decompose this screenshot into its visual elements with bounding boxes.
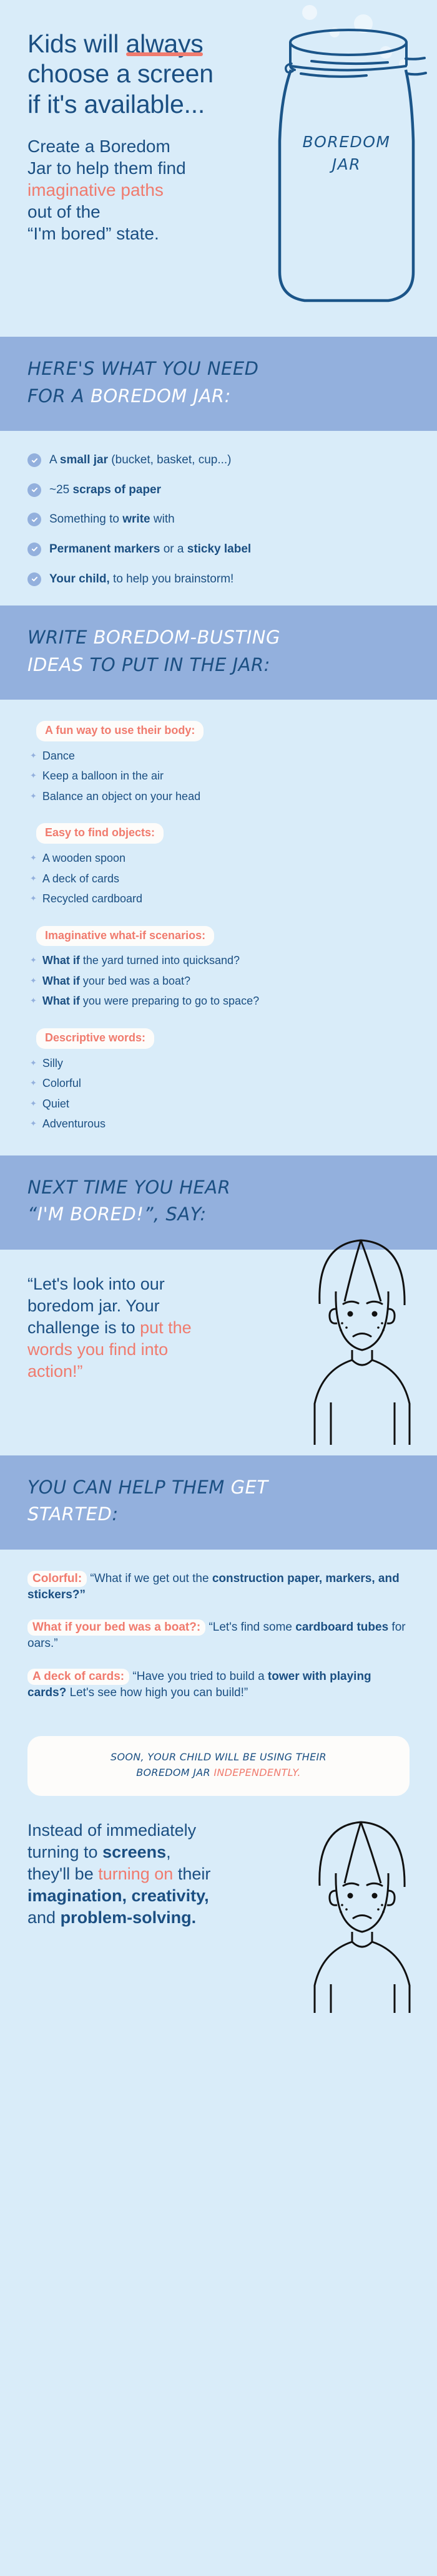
list-item: ✦Recycled cardboard — [27, 891, 410, 907]
callout-line2-plain: BOREDOM JAR — [136, 1767, 214, 1778]
boredom-jar-illustration: BOREDOM JAR — [272, 4, 428, 328]
needs-heading-band: HERE'S WHAT YOU NEED FOR A BOREDOM JAR: — [0, 337, 437, 431]
ideas-heading-line1-plain: WRITE — [27, 627, 94, 648]
list-item-label: What if your bed was a boat? — [42, 973, 190, 990]
closer-text: Instead of immediately turning to screen… — [27, 1820, 215, 1929]
help-heading-line1-plain: YOU CAN HELP THEM — [27, 1477, 231, 1498]
idea-group: A fun way to use their body: ✦Dance ✦Kee… — [27, 721, 410, 804]
list-item: ✦Keep a balloon in the air — [27, 768, 410, 784]
list-item-label: Balance an object on your head — [42, 789, 200, 805]
ideas-heading-band: WRITE BOREDOM-BUSTING IDEAS TO PUT IN TH… — [0, 605, 437, 700]
subhead-part-1: Create a Boredom — [27, 137, 170, 156]
diamond-bullet-icon: ✦ — [30, 1116, 37, 1132]
subhead-part-4: “I'm bored” state. — [27, 224, 159, 243]
tip: Colorful: “What if we get out the constr… — [27, 1571, 410, 1603]
list-item-label: Silly — [42, 1056, 63, 1072]
callout-card: SOON, YOUR CHILD WILL BE USING THEIR BOR… — [27, 1736, 410, 1796]
list-item-label: A deck of cards — [42, 871, 119, 887]
tip-label: A deck of cards: — [27, 1669, 129, 1685]
headline-part-1: Kids will — [27, 29, 125, 58]
diamond-bullet-icon: ✦ — [30, 953, 37, 968]
idea-list: ✦A wooden spoon ✦A deck of cards ✦Recycl… — [27, 851, 410, 907]
list-item-label: Something to write with — [49, 511, 175, 528]
list-item-label: ~25 scraps of paper — [49, 482, 161, 498]
hero-subhead: Create a Boredom Jar to help them find i… — [27, 135, 249, 244]
closer-section: Instead of immediately turning to screen… — [0, 1801, 437, 2007]
idea-list: ✦What if the yard turned into quicksand?… — [27, 953, 410, 1010]
needs-list-section: A small jar (bucket, basket, cup...) ~25… — [0, 431, 437, 605]
parent-script-quote: “Let's look into our boredom jar. Your c… — [27, 1273, 215, 1382]
closer-bold3: problem-solving. — [61, 1908, 197, 1927]
jar-label-line1: BOREDOM — [303, 133, 391, 151]
say-heading-quote-close: ”, SAY: — [144, 1204, 206, 1225]
idea-group-label: Descriptive words: — [36, 1028, 154, 1049]
help-heading-line2-white: STARTED — [27, 1503, 112, 1525]
tip-label: Colorful: — [27, 1571, 87, 1587]
idea-group-label: Easy to find objects: — [36, 823, 164, 844]
check-icon — [27, 543, 41, 556]
say-heading-line1: NEXT TIME YOU HEAR — [27, 1177, 230, 1198]
list-item-label: Colorful — [42, 1076, 81, 1092]
list-item: ~25 scraps of paper — [27, 482, 410, 498]
list-item-label: Your child, to help you brainstorm! — [49, 571, 233, 587]
help-tips-section: Colorful: “What if we get out the constr… — [0, 1550, 437, 1720]
check-icon — [27, 483, 41, 497]
tip: What if your bed was a boat?: “Let's fin… — [27, 1619, 410, 1652]
list-item: ✦A wooden spoon — [27, 851, 410, 867]
list-item-label: Dance — [42, 748, 75, 765]
callout-wrapper: SOON, YOUR CHILD WILL BE USING THEIR BOR… — [0, 1720, 437, 1801]
headline-part-2: choose a screen — [27, 59, 214, 88]
list-item-label: Permanent markers or a sticky label — [49, 541, 251, 557]
list-item-label: Adventurous — [42, 1116, 106, 1132]
diamond-bullet-icon: ✦ — [30, 993, 37, 1009]
closer-part3: their — [173, 1864, 210, 1883]
subhead-part-3: out of the — [27, 202, 101, 221]
tip-text-bold: cardboard tubes — [295, 1621, 388, 1634]
diamond-bullet-icon: ✦ — [30, 1096, 37, 1112]
subhead-accent: imaginative paths — [27, 180, 164, 200]
ideas-heading-line1-white: BOREDOM-BUSTING — [94, 627, 280, 648]
list-item-label: Keep a balloon in the air — [42, 768, 164, 784]
help-heading-line1-white: GET — [231, 1477, 268, 1498]
say-heading-white: I'M BORED! — [37, 1204, 144, 1225]
list-item-label: Recycled cardboard — [42, 891, 142, 907]
tip-text-part1: “Let's find some — [205, 1621, 295, 1634]
child-illustration-2 — [287, 1807, 437, 2013]
say-heading: NEXT TIME YOU HEAR “I'M BORED!”, SAY: — [27, 1174, 410, 1228]
list-item: ✦Colorful — [27, 1076, 410, 1092]
diamond-bullet-icon: ✦ — [30, 748, 37, 764]
child-illustration — [287, 1222, 437, 1446]
idea-list: ✦Silly ✦Colorful ✦Quiet ✦Adventurous — [27, 1056, 410, 1132]
idea-group: Imaginative what-if scenarios: ✦What if … — [27, 926, 410, 1010]
jar-label-line2: JAR — [329, 155, 361, 173]
help-heading-band: YOU CAN HELP THEM GET STARTED: — [0, 1455, 437, 1550]
subhead-part-2: Jar to help them find — [27, 158, 186, 178]
list-item: Permanent markers or a sticky label — [27, 541, 410, 557]
hero-text-block: Kids will always choose a screen if it's… — [27, 29, 290, 244]
diamond-bullet-icon: ✦ — [30, 891, 37, 907]
check-icon — [27, 513, 41, 526]
say-heading-quote-open: “ — [27, 1204, 37, 1225]
list-item: Something to write with — [27, 511, 410, 528]
list-item-label: What if the yard turned into quicksand? — [42, 953, 240, 969]
list-item-label: Quiet — [42, 1096, 69, 1112]
callout-line2-accent: INDEPENDENTLY. — [214, 1767, 300, 1778]
tip-label: What if your bed was a boat?: — [27, 1619, 205, 1636]
closer-bold1: screens — [102, 1843, 166, 1861]
quote-section: “Let's look into our boredom jar. Your c… — [0, 1250, 437, 1455]
headline-underlined-word: always — [125, 29, 203, 59]
diamond-bullet-icon: ✦ — [30, 973, 37, 989]
idea-group-label: Imaginative what-if scenarios: — [36, 926, 214, 947]
idea-group: Descriptive words: ✦Silly ✦Colorful ✦Qui… — [27, 1028, 410, 1132]
list-item: ✦A deck of cards — [27, 871, 410, 887]
diamond-bullet-icon: ✦ — [30, 768, 37, 784]
help-heading-line2-plain: : — [112, 1503, 118, 1525]
idea-group: Easy to find objects: ✦A wooden spoon ✦A… — [27, 823, 410, 907]
list-item: Your child, to help you brainstorm! — [27, 571, 410, 587]
tip-text-part1: “Have you tried to build a — [129, 1670, 268, 1683]
page-title: Kids will always choose a screen if it's… — [27, 29, 290, 119]
idea-group-label: A fun way to use their body: — [36, 721, 204, 741]
diamond-bullet-icon: ✦ — [30, 1076, 37, 1091]
list-item: ✦Dance — [27, 748, 410, 765]
help-heading: YOU CAN HELP THEM GET STARTED: — [27, 1474, 410, 1528]
list-item: A small jar (bucket, basket, cup...) — [27, 452, 410, 468]
closer-accent: turning on — [98, 1864, 173, 1883]
closer-part4: and — [27, 1908, 61, 1927]
idea-list: ✦Dance ✦Keep a balloon in the air ✦Balan… — [27, 748, 410, 805]
tip-text-part1: “What if we get out the — [87, 1572, 212, 1585]
list-item: ✦Silly — [27, 1056, 410, 1072]
callout-line1: SOON, YOUR CHILD WILL BE USING THEIR — [110, 1751, 327, 1763]
list-item: ✦What if the yard turned into quicksand? — [27, 953, 410, 969]
ideas-list-section: A fun way to use their body: ✦Dance ✦Kee… — [0, 700, 437, 1155]
list-item: ✦What if your bed was a boat? — [27, 973, 410, 990]
diamond-bullet-icon: ✦ — [30, 871, 37, 887]
list-item-label: What if you were preparing to go to spac… — [42, 993, 259, 1010]
tip: A deck of cards: “Have you tried to buil… — [27, 1669, 410, 1701]
ideas-heading-line2-white: IDEAS — [27, 654, 90, 675]
diamond-bullet-icon: ✦ — [30, 789, 37, 804]
needs-heading-line2-plain: FOR A — [27, 385, 91, 407]
hero-section: BOREDOM JAR Kids will always choose a sc… — [0, 0, 437, 337]
list-item-label: A small jar (bucket, basket, cup...) — [49, 452, 232, 468]
tip-text-part2: Let's see how high you can build!” — [66, 1686, 248, 1699]
list-item: ✦Balance an object on your head — [27, 789, 410, 805]
needs-heading-line1: HERE'S WHAT YOU NEED — [27, 358, 259, 379]
needs-heading-line2-white: BOREDOM JAR: — [91, 385, 231, 407]
closer-bold2: imagination, creativity, — [27, 1886, 209, 1905]
list-item-label: A wooden spoon — [42, 851, 125, 867]
supplies-checklist: A small jar (bucket, basket, cup...) ~25… — [27, 452, 410, 587]
check-icon — [27, 572, 41, 586]
callout-text: SOON, YOUR CHILD WILL BE USING THEIR BOR… — [44, 1750, 393, 1781]
diamond-bullet-icon: ✦ — [30, 851, 37, 866]
list-item: ✦Quiet — [27, 1096, 410, 1112]
infographic-page: BOREDOM JAR Kids will always choose a sc… — [0, 0, 437, 2576]
list-item: ✦What if you were preparing to go to spa… — [27, 993, 410, 1010]
check-icon — [27, 453, 41, 467]
list-item: ✦Adventurous — [27, 1116, 410, 1132]
diamond-bullet-icon: ✦ — [30, 1056, 37, 1071]
ideas-heading: WRITE BOREDOM-BUSTING IDEAS TO PUT IN TH… — [27, 624, 410, 678]
needs-heading: HERE'S WHAT YOU NEED FOR A BOREDOM JAR: — [27, 355, 410, 410]
ideas-heading-line2-plain: TO PUT IN THE JAR: — [90, 654, 270, 675]
headline-part-3: if it's available... — [27, 90, 205, 118]
